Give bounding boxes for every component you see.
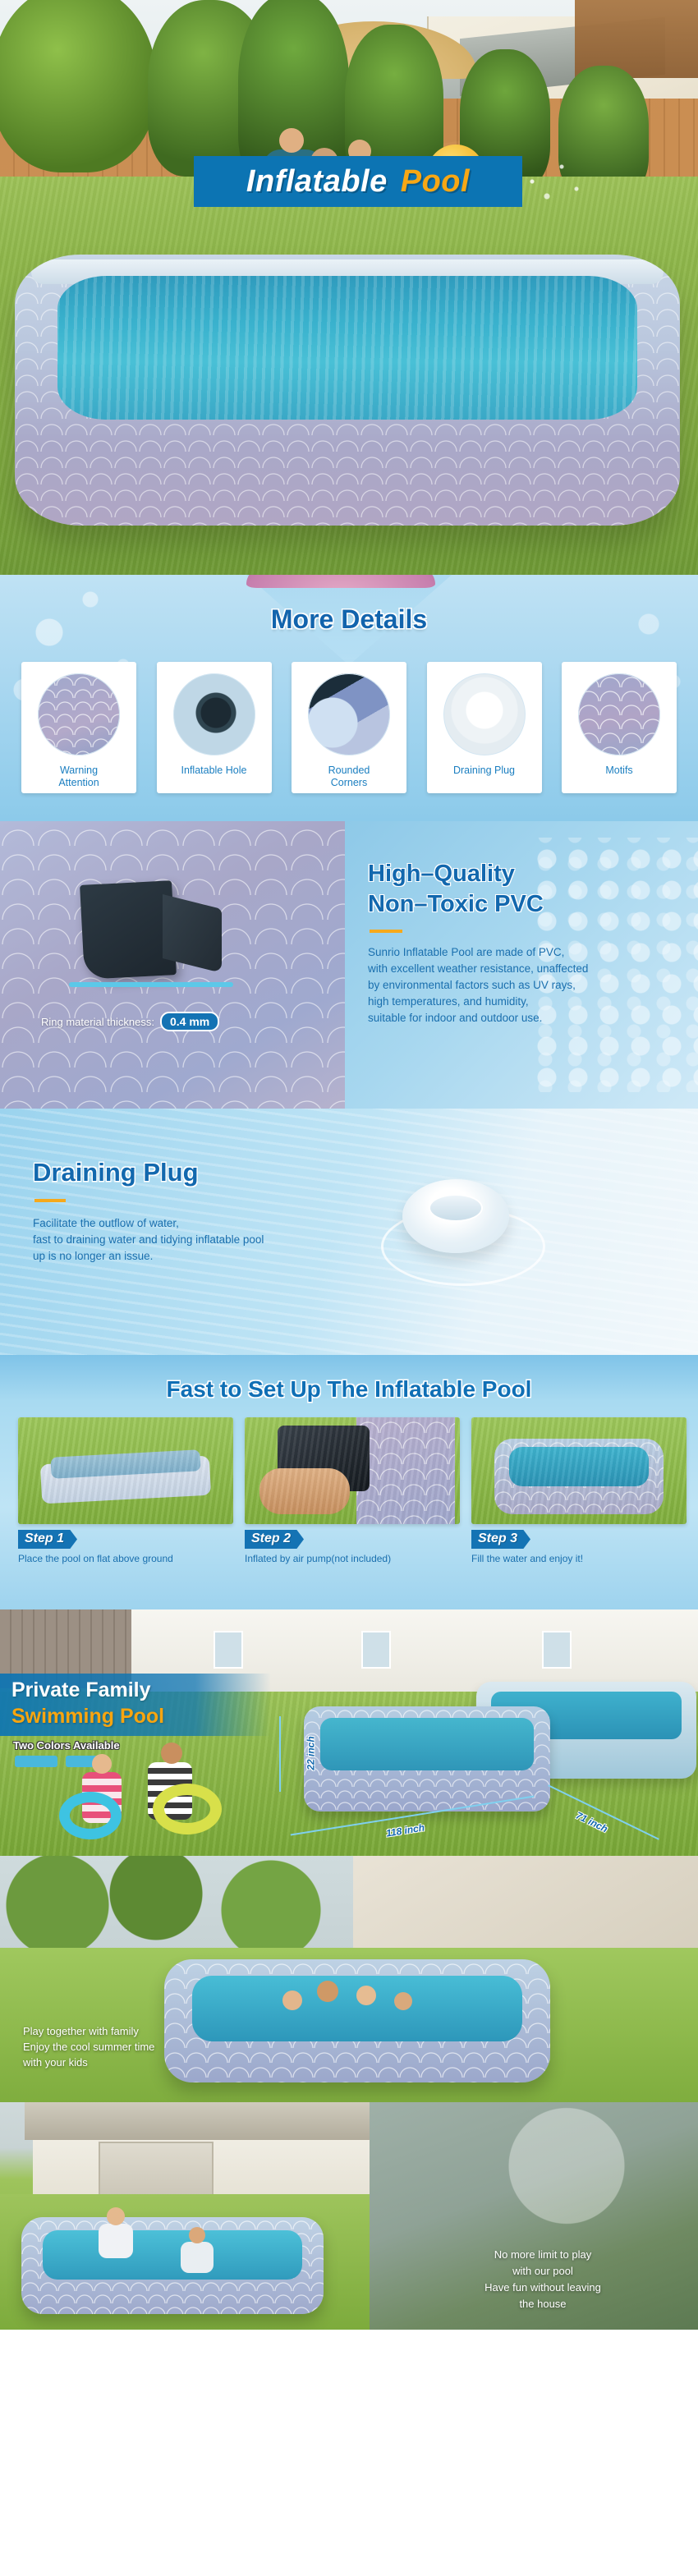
plug-thumb-icon [442,672,527,757]
section-title-more-details: More Details [0,604,698,635]
product-listing-page: Inflatable Pool More Details WarningAtte… [0,0,698,2330]
detail-card-label: Motifs [605,765,632,777]
child-figure [99,2224,133,2258]
step-image [18,1417,233,1524]
step-list: Step 1 Place the pool on flat above grou… [0,1403,698,1564]
step-badge: Step 3 [471,1530,530,1549]
drain-heading: Draining Plug [33,1158,353,1187]
family-group [271,1976,452,2033]
drain-plug-cap [429,1194,483,1222]
corner-thumb-icon [306,672,392,757]
detail-card-label: RoundedCorners [328,765,370,789]
child-figure [107,2207,125,2225]
step-item: Step 2 Inflated by air pump(not included… [245,1417,460,1564]
private-family-section: Private Family Swimming Pool Two Colors … [0,1609,698,1856]
hero-pool-product [15,255,680,526]
swim-ring-icon [153,1784,222,1834]
color-swatch[interactable] [15,1756,57,1767]
step-badge: Step 2 [245,1530,304,1549]
child-figure [189,2227,205,2243]
family-title-line2: Swimming Pool [11,1703,271,1729]
limit-caption: No more limit to playwith our poolHave f… [407,2247,678,2312]
two-colors-note: Two Colors Available [13,1739,120,1752]
tree-icon [0,0,156,172]
step-image [245,1417,460,1524]
thickness-label: Ring material thickness: [41,1016,154,1028]
dimension-line [279,1716,281,1792]
detail-card-label: Inflatable Hole [181,765,247,777]
step-item: Step 3 Fill the water and enjoy it! [471,1417,687,1564]
thickness-callout: Ring material thickness: 0.4 mm [41,1012,219,1031]
detail-card[interactable]: Motifs [562,662,677,793]
pool-product [21,2217,324,2314]
pvc-photo: Ring material thickness: 0.4 mm [0,821,345,1109]
child-figure [181,2242,214,2273]
section-title-setup: Fast to Set Up The Inflatable Pool [0,1355,698,1403]
dimension-height: 22 inch [305,1736,317,1770]
pvc-copy: High–Quality Non–Toxic PVC Sunrio Inflat… [345,821,698,1109]
play-together-section: Play together with familyEnjoy the cool … [0,1856,698,2102]
draining-plug-section: Draining Plug Facilitate the outflow of … [0,1109,698,1355]
pool-water [57,276,637,420]
pvc-body-text: Sunrio Inflatable Pool are made of PVC, … [368,944,682,1026]
house-roof [25,2102,386,2140]
pool-variant-scales [304,1706,550,1811]
no-limit-section: No more limit to playwith our poolHave f… [0,2102,698,2330]
detail-card[interactable]: RoundedCorners [292,662,406,793]
swim-ring-icon [59,1792,122,1839]
valve-thumb-icon [172,672,257,757]
pool-water [43,2230,302,2280]
heading-underline [370,930,402,933]
more-details-section: More Details WarningAttention Inflatable… [0,575,698,821]
play-caption: Play together with familyEnjoy the cool … [23,2023,154,2070]
caliper-icon [69,982,233,987]
drain-copy: Draining Plug Facilitate the outflow of … [0,1109,353,1355]
child-figure [161,1743,182,1764]
detail-card-label: WarningAttention [58,765,99,789]
garage-door [99,2142,214,2199]
pink-umbrella-icon [246,575,435,588]
thickness-badge: 0.4 mm [160,1012,219,1031]
step-caption: Inflated by air pump(not included) [245,1553,460,1564]
hero-title-primary: Inflatable [246,164,388,200]
background-trees [0,1856,394,1954]
detail-card[interactable]: Draining Plug [427,662,542,793]
setup-steps-section: Fast to Set Up The Inflatable Pool Step … [0,1355,698,1609]
scales-thumb-icon [36,672,122,757]
detail-card[interactable]: WarningAttention [21,662,136,793]
drain-photo [353,1109,698,1355]
pvc-heading-line1: High–Quality [368,859,682,889]
detail-card-label: Draining Plug [453,765,515,777]
motif-thumb-icon [576,672,662,757]
step-caption: Place the pool on flat above ground [18,1553,233,1564]
child-figure [92,1754,112,1774]
step-caption: Fill the water and enjoy it! [471,1553,687,1564]
pvc-heading-line2: Non–Toxic PVC [368,889,682,920]
family-title-line1: Private Family [11,1677,271,1703]
pvc-material-section: Ring material thickness: 0.4 mm High–Qua… [0,821,698,1109]
water-splash-icon [493,145,591,218]
hero-title-accent: Pool [401,164,470,200]
detail-card[interactable]: Inflatable Hole [157,662,272,793]
heading-underline [34,1199,66,1202]
step-image [471,1417,687,1524]
hero-title-banner: Inflatable Pool [194,156,522,207]
hero-section: Inflatable Pool [0,0,698,575]
step-badge: Step 1 [18,1530,77,1549]
detail-card-list: WarningAttention Inflatable Hole Rounded… [21,662,677,793]
family-title-banner: Private Family Swimming Pool [0,1674,271,1736]
background-house [353,1856,698,1954]
drain-body-text: Facilitate the outflow of water, fast to… [33,1215,353,1265]
step-item: Step 1 Place the pool on flat above grou… [18,1417,233,1564]
